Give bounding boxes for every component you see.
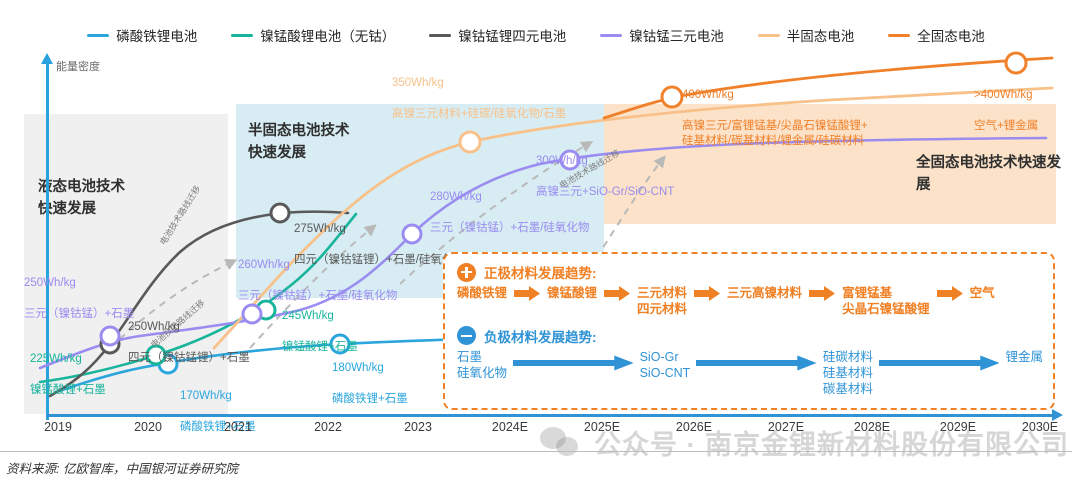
annotation-250t-value: 250Wh/kg — [24, 276, 134, 292]
x-tick-2027e: 2027E — [768, 420, 804, 434]
arrow-right-icon — [694, 286, 720, 301]
annotation-250-quaternary: 250Wh/kg 四元（镍钴锰锂）+石墨 — [128, 304, 250, 366]
anode-step-3: 硅碳材料 硅基材料 碳基材料 — [823, 349, 873, 398]
x-tick-2029e: 2029E — [940, 420, 976, 434]
legend-swatch-ncml — [429, 34, 451, 37]
legend-label-ncm: 镍钴锰三元电池 — [629, 25, 724, 45]
cathode-trend-title: 正极材料发展趋势: — [484, 262, 597, 282]
annotation-350-desc: 高镍三元材料+硅碳/硅氧化物/石墨 — [392, 108, 566, 120]
annotation-350-value: 350Wh/kg — [392, 76, 566, 92]
x-tick-2019: 2019 — [44, 420, 72, 434]
anode-step-4: 锂金属 — [1005, 349, 1043, 365]
annotation-225-value: 225Wh/kg — [30, 352, 106, 368]
cathode-step-5: 富锂锰基 尖晶石镍锰酸锂 — [842, 285, 930, 318]
legend-label-solid: 全固态电池 — [917, 25, 985, 45]
x-tick-2026e: 2026E — [676, 420, 712, 434]
legend-label-lnmo: 镍锰酸锂电池（无钴） — [260, 25, 395, 45]
annotation-180-desc: 磷酸铁锂+石墨 — [332, 393, 408, 405]
x-tick-2030e: 2030E — [1022, 420, 1058, 434]
legend-swatch-lfp — [87, 34, 109, 37]
arrow-right-icon — [514, 286, 540, 301]
plus-icon — [457, 263, 476, 282]
annotation-250q-desc: 四元（镍钴锰锂）+石墨 — [128, 352, 250, 364]
annotation-400plus-desc: 空气+锂金属 — [974, 120, 1038, 132]
x-tick-2028e: 2028E — [854, 420, 890, 434]
source-note: 资料来源: 亿欧智库，中国银河证券研究院 — [6, 458, 238, 477]
legend-label-lfp: 磷酸铁锂电池 — [116, 25, 197, 45]
minus-icon — [457, 326, 476, 345]
annotation-350: 350Wh/kg 高镍三元材料+硅碳/硅氧化物/石墨 — [392, 60, 566, 122]
annotation-400plus-value: >400Wh/kg — [974, 88, 1038, 104]
annotation-300-desc: 高镍三元+SiO-Gr/SiO-CNT — [536, 186, 674, 198]
chart-root: 磷酸铁锂电池 镍锰酸锂电池（无钴） 镍钴锰锂四元电池 镍钴锰三元电池 半固态电池… — [0, 0, 1072, 484]
x-tick-2023: 2023 — [404, 420, 432, 434]
annotation-250-ternary: 250Wh/kg 三元（镍钴锰）+石墨 — [24, 260, 134, 322]
marker-350 — [460, 132, 480, 152]
anode-trend-header: 负极材料发展趋势: — [457, 326, 1043, 346]
x-tick-2022: 2022 — [314, 420, 342, 434]
marker-400 — [662, 87, 682, 107]
footer-divider — [0, 451, 1072, 452]
annotation-250t-desc: 三元（镍钴锰）+石墨 — [24, 308, 134, 320]
arrow-long-right-icon — [513, 355, 634, 371]
arrow-right-icon — [809, 286, 835, 301]
material-trend-box: 正极材料发展趋势: 磷酸铁锂 镍锰酸锂 三元材料 四元材料 三元高镍材料 富锂锰… — [443, 252, 1055, 410]
x-tick-2025e: 2025E — [584, 420, 620, 434]
legend-swatch-solid — [888, 34, 910, 37]
annotation-225: 225Wh/kg 镍锰酸锂+石墨 — [30, 336, 106, 398]
chart-legend: 磷酸铁锂电池 镍锰酸锂电池（无钴） 镍钴锰锂四元电池 镍钴锰三元电池 半固态电池… — [0, 22, 1072, 48]
legend-label-semisolid: 半固态电池 — [787, 25, 855, 45]
annotation-400: 400Wh/kg 高镍三元/富锂锰基/尖晶石镍锰酸锂+ 硅基材料/碳基材料/锂金… — [682, 72, 868, 150]
annotation-400-plus: >400Wh/kg 空气+锂金属 — [974, 72, 1038, 134]
arrow-long-right-icon — [696, 355, 817, 371]
annotation-225-desc: 镍锰酸锂+石墨 — [30, 384, 106, 396]
annotation-400-value: 400Wh/kg — [682, 88, 868, 104]
cathode-step-1: 磷酸铁锂 — [457, 285, 507, 301]
legend-item-solid: 全固态电池 — [888, 25, 985, 45]
annotation-300: 300Wh/kg 高镍三元+SiO-Gr/SiO-CNT — [536, 138, 674, 200]
x-tick-2024e: 2024E — [492, 420, 528, 434]
legend-item-ncml: 镍钴锰锂四元电池 — [429, 25, 566, 45]
arrow-long-right-icon — [879, 355, 1000, 371]
annotation-245-desc: 镍锰酸锂+石墨 — [282, 341, 358, 353]
x-tick-2021: 2021 — [224, 420, 252, 434]
cathode-step-4: 三元高镍材料 — [727, 285, 802, 301]
annotation-260-desc: 三元（镍钴锰）+石墨/硅氧化物 — [238, 290, 397, 302]
legend-item-lfp: 磷酸铁锂电池 — [87, 25, 197, 45]
anode-trend-row: 石墨 硅氧化物 SiO-Gr SiO-CNT 硅碳材料 硅基材料 碳基材料 锂金… — [457, 349, 1043, 398]
legend-swatch-ncm — [600, 34, 622, 37]
annotation-300-value: 300Wh/kg — [536, 154, 674, 170]
legend-swatch-lnmo — [231, 34, 253, 37]
legend-label-ncml: 镍钴锰锂四元电池 — [458, 25, 566, 45]
marker-275 — [271, 204, 289, 222]
annotation-275-desc: 四元（镍钴锰锂）+石墨/硅氧化物 — [294, 254, 465, 266]
legend-item-lnmo: 镍锰酸锂电池（无钴） — [231, 25, 395, 45]
x-axis-tick-labels: 2019 2020 2021 2022 2023 2024E 2025E 202… — [0, 420, 1072, 444]
annotation-180-value: 180Wh/kg — [332, 361, 408, 377]
anode-step-2: SiO-Gr SiO-CNT — [640, 349, 691, 382]
anode-trend-title: 负极材料发展趋势: — [484, 326, 597, 346]
marker-400plus — [1006, 53, 1026, 73]
cathode-trend-header: 正极材料发展趋势: — [457, 262, 1043, 282]
cathode-trend-row: 磷酸铁锂 镍锰酸锂 三元材料 四元材料 三元高镍材料 富锂锰基 尖晶石镍锰酸锂 … — [457, 285, 1043, 318]
annotation-170-value: 170Wh/kg — [180, 389, 256, 405]
annotation-250q-value: 250Wh/kg — [128, 320, 250, 336]
cathode-step-6: 空气 — [970, 285, 995, 301]
cathode-step-3: 三元材料 四元材料 — [637, 285, 687, 318]
legend-item-ncm: 镍钴锰三元电池 — [600, 25, 724, 45]
legend-item-semisolid: 半固态电池 — [758, 25, 855, 45]
anode-step-1: 石墨 硅氧化物 — [457, 349, 507, 382]
legend-swatch-semisolid — [758, 34, 780, 37]
annotation-245-value: 245Wh/kg — [282, 309, 358, 325]
cathode-step-2: 镍锰酸锂 — [547, 285, 597, 301]
arrow-right-icon — [937, 286, 963, 301]
annotation-400-desc: 高镍三元/富锂锰基/尖晶石镍锰酸锂+ 硅基材料/碳基材料/锂金属/硅碳材料 — [682, 120, 868, 148]
annotation-280-desc: 三元（镍钴锰）+石墨/硅氧化物 — [430, 222, 589, 234]
x-tick-2020: 2020 — [134, 420, 162, 434]
arrow-right-icon — [604, 286, 630, 301]
